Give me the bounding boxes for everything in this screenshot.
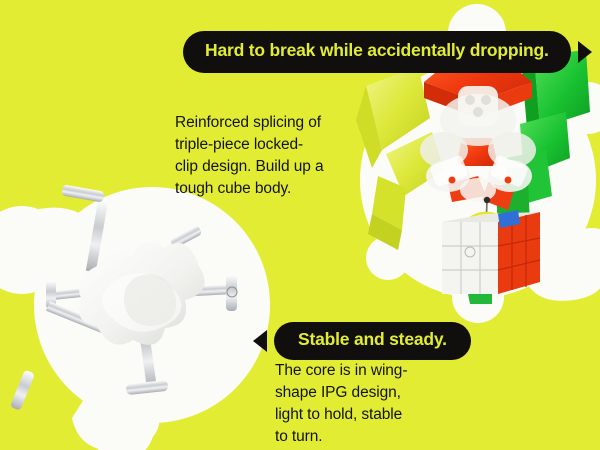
callout-stable-and-steady: Stable and steady. (253, 322, 471, 360)
mechanism-cap (458, 86, 498, 126)
callout-hard-to-break: Hard to break while accidentally droppin… (183, 31, 592, 73)
assembled-cube (442, 210, 540, 304)
cube-core-image (10, 184, 237, 410)
core-screw-up (61, 184, 108, 272)
screw-head-right (226, 275, 237, 311)
mechanism-dot-left (449, 177, 456, 184)
callout-badge-stable-and-steady[interactable]: Stable and steady. (274, 322, 471, 360)
mechanism-magnet-b (481, 95, 491, 105)
screw-head-down (126, 380, 169, 395)
triangle-left-icon (253, 330, 267, 352)
cube-sticker-green-bottom (468, 294, 492, 304)
screw-head-up (61, 184, 104, 202)
cube-face-white (442, 222, 498, 294)
mechanism-magnet-a (465, 95, 475, 105)
triangle-right-icon (578, 41, 592, 63)
cube-internal-mechanism (420, 86, 536, 202)
body-text-hard-to-break: Reinforced splicing of triple-piece lock… (175, 112, 365, 200)
body-text-stable-and-steady: The core is in wing- shape IPG design, l… (275, 360, 475, 448)
screw-head-lower-left (10, 370, 35, 411)
product-feature-infographic: Hard to break while accidentally droppin… (0, 0, 600, 450)
callout-badge-hard-to-break[interactable]: Hard to break while accidentally droppin… (183, 31, 571, 73)
mechanism-magnet-c (473, 107, 483, 117)
mechanism-dot-right (505, 177, 512, 184)
mechanism-base (460, 178, 496, 202)
leader-dot-top (484, 197, 490, 203)
exploded-speed-cube-image (356, 38, 590, 304)
